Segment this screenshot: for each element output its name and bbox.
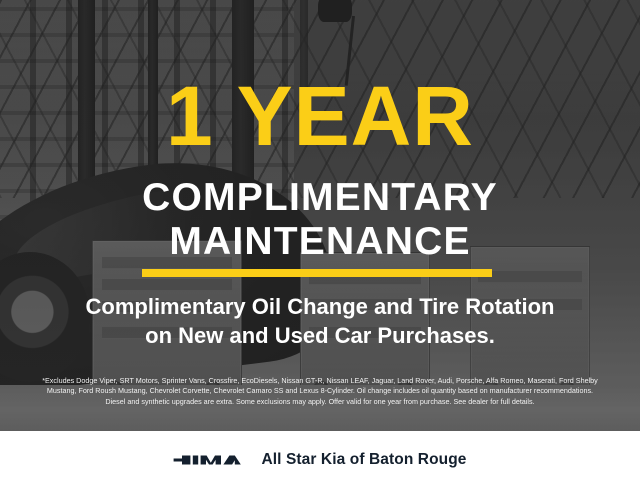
kia-maintenance-ad-banner: 1 YEAR COMPLIMENTARY MAINTENANCE Complim… bbox=[0, 0, 640, 488]
headline-secondary-line-2: MAINTENANCE bbox=[0, 222, 640, 261]
promo-copy-block: 1 YEAR COMPLIMENTARY MAINTENANCE Complim… bbox=[0, 0, 640, 431]
disclaimer-line-1: *Excludes Dodge Viper, SRT Motors, Sprin… bbox=[14, 376, 626, 386]
disclaimer-block: *Excludes Dodge Viper, SRT Motors, Sprin… bbox=[14, 376, 626, 407]
dealer-name: All Star Kia of Baton Rouge bbox=[261, 451, 466, 469]
disclaimer-line-3: Diesel and synthetic upgrades are extra.… bbox=[14, 397, 626, 407]
headline-secondary-line-1: COMPLIMENTARY bbox=[0, 178, 640, 217]
headline-primary: 1 YEAR bbox=[0, 74, 640, 158]
disclaimer-line-2: Mustang, Ford Roush Mustang, Chevrolet C… bbox=[14, 386, 626, 396]
kia-logo bbox=[173, 450, 245, 470]
tagline-block: Complimentary Oil Change and Tire Rotati… bbox=[0, 292, 640, 350]
footer-brand-bar: All Star Kia of Baton Rouge bbox=[0, 431, 640, 488]
tagline-line-1: Complimentary Oil Change and Tire Rotati… bbox=[0, 292, 640, 321]
tagline-line-2: on New and Used Car Purchases. bbox=[0, 321, 640, 350]
yellow-divider-bar bbox=[142, 269, 492, 277]
hero-photo-region: 1 YEAR COMPLIMENTARY MAINTENANCE Complim… bbox=[0, 0, 640, 431]
